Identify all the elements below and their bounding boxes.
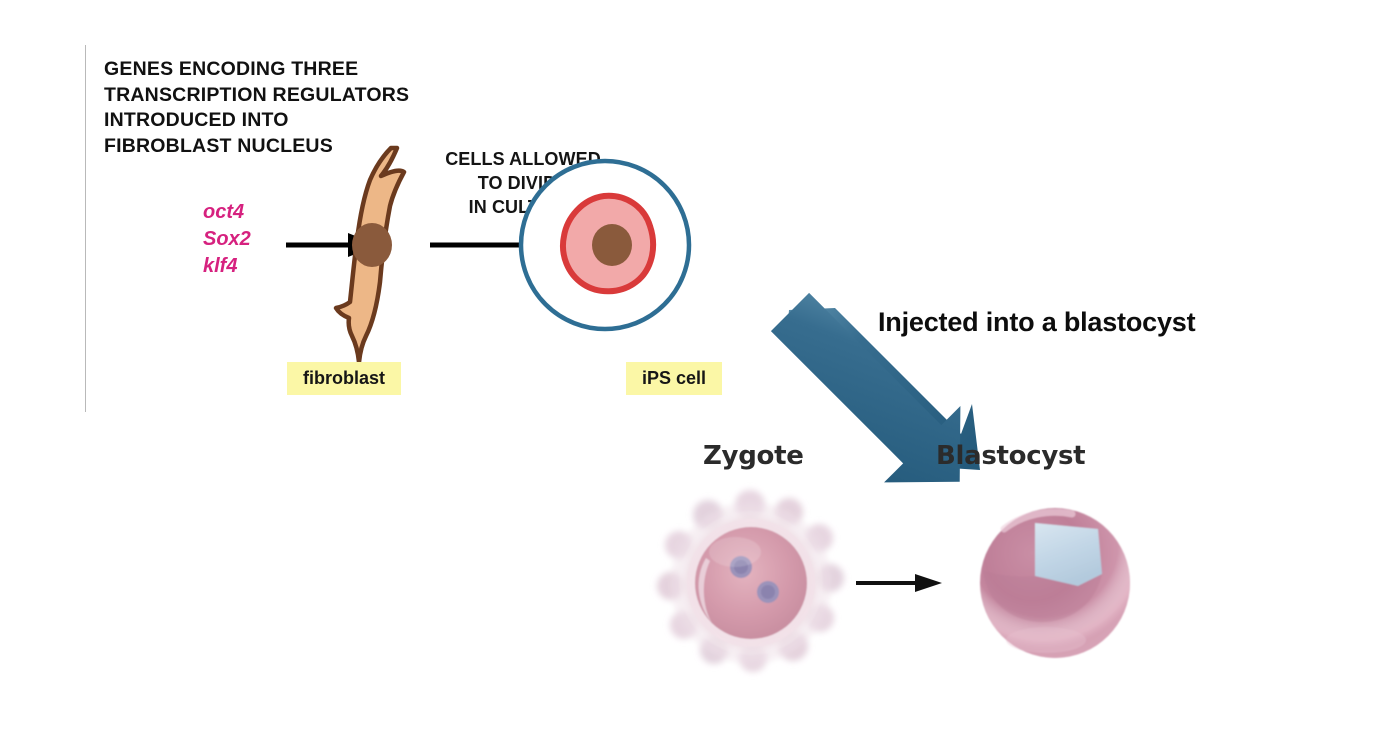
fibroblast-nucleus-icon xyxy=(352,223,392,267)
fibroblast-cell-icon xyxy=(336,148,404,362)
zygote-photo-icon xyxy=(657,490,844,672)
diagram-canvas: GENES ENCODING THREE TRANSCRIPTION REGUL… xyxy=(0,0,1384,744)
caption-zygote: Zygote xyxy=(703,441,804,471)
caption-blastocyst: Blastocyst xyxy=(936,441,1085,471)
ips-nucleus-icon xyxy=(592,224,632,266)
label-ips-cell: iPS cell xyxy=(626,362,722,395)
inner-cell-mass-icon xyxy=(1035,523,1102,586)
injection-caption: Injected into a blastocyst xyxy=(878,307,1195,338)
label-fibroblast: fibroblast xyxy=(287,362,401,395)
development-arrow xyxy=(856,574,942,592)
blastocyst-photo-icon xyxy=(980,508,1130,658)
ips-cell-icon xyxy=(521,161,689,329)
